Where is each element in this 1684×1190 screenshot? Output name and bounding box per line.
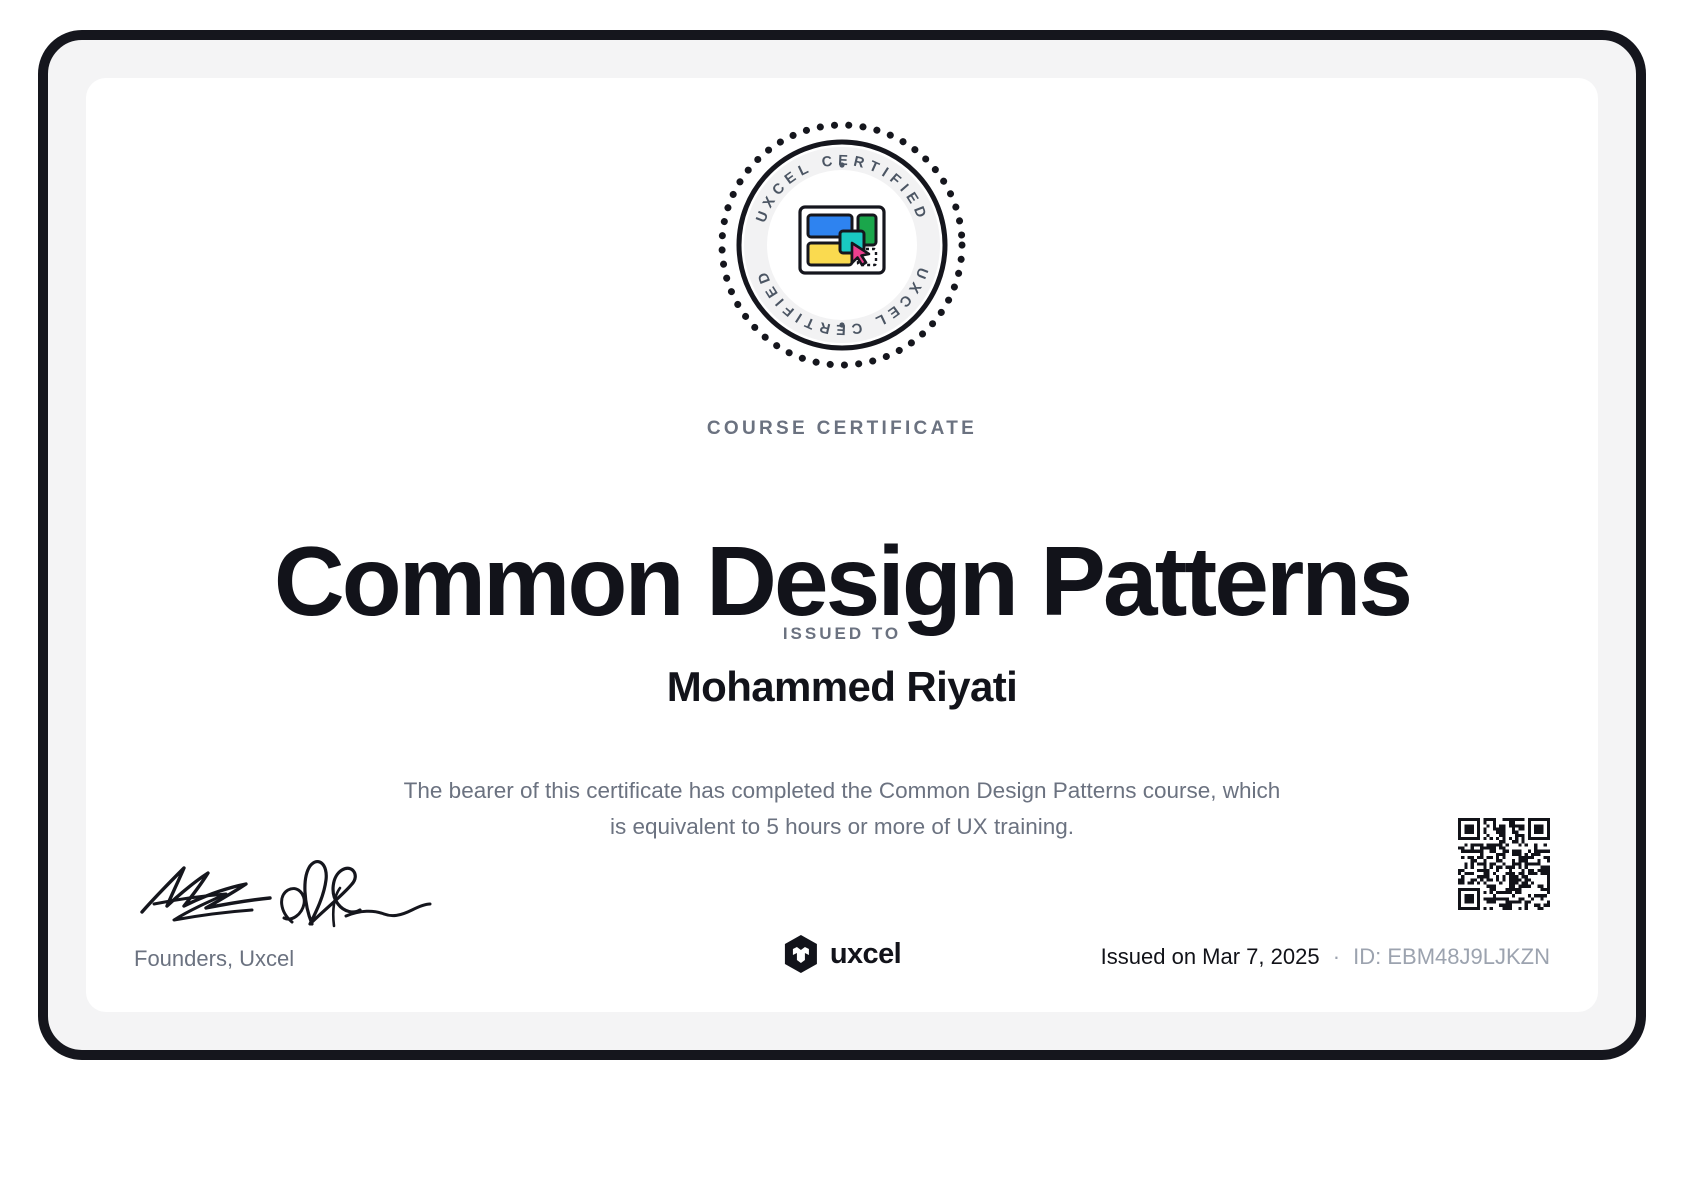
verification-qr-code[interactable] — [1458, 818, 1550, 910]
issue-info-separator: · — [1333, 944, 1340, 969]
eyebrow-label: COURSE CERTIFICATE — [86, 418, 1598, 440]
certificate-description: The bearer of this certificate has compl… — [402, 773, 1282, 846]
certificate-frame: UXCEL CERTIFIED UXCEL CERTIFIED — [38, 30, 1646, 1060]
uxcel-brand: uxcel — [783, 934, 901, 974]
uxcel-cube-logo-icon — [783, 934, 819, 974]
founders-role-label: Founders, Uxcel — [134, 946, 294, 972]
seal-bullet-bottom — [839, 322, 844, 327]
page-title: Common Design Patterns — [86, 529, 1598, 635]
seal-bullet-top — [839, 162, 844, 167]
design-patterns-layout-icon — [800, 207, 884, 273]
certification-seal: UXCEL CERTIFIED UXCEL CERTIFIED — [711, 114, 973, 376]
founder-signatures-icon — [134, 838, 434, 928]
certificate-card: UXCEL CERTIFIED UXCEL CERTIFIED — [86, 78, 1598, 1012]
uxcel-brand-name: uxcel — [830, 938, 901, 971]
issued-to-label: ISSUED TO — [86, 624, 1598, 644]
issued-on-date: Issued on Mar 7, 2025 — [1101, 944, 1320, 969]
certificate-id: ID: EBM48J9LJKZN — [1353, 944, 1550, 969]
recipient-name: Mohammed Riyati — [86, 663, 1598, 711]
signature-block — [134, 838, 454, 928]
seal-graphic: UXCEL CERTIFIED UXCEL CERTIFIED — [711, 114, 973, 376]
issue-info: Issued on Mar 7, 2025 · ID: EBM48J9LJKZN — [1101, 944, 1550, 970]
qr-code-graphic[interactable] — [1458, 818, 1550, 910]
